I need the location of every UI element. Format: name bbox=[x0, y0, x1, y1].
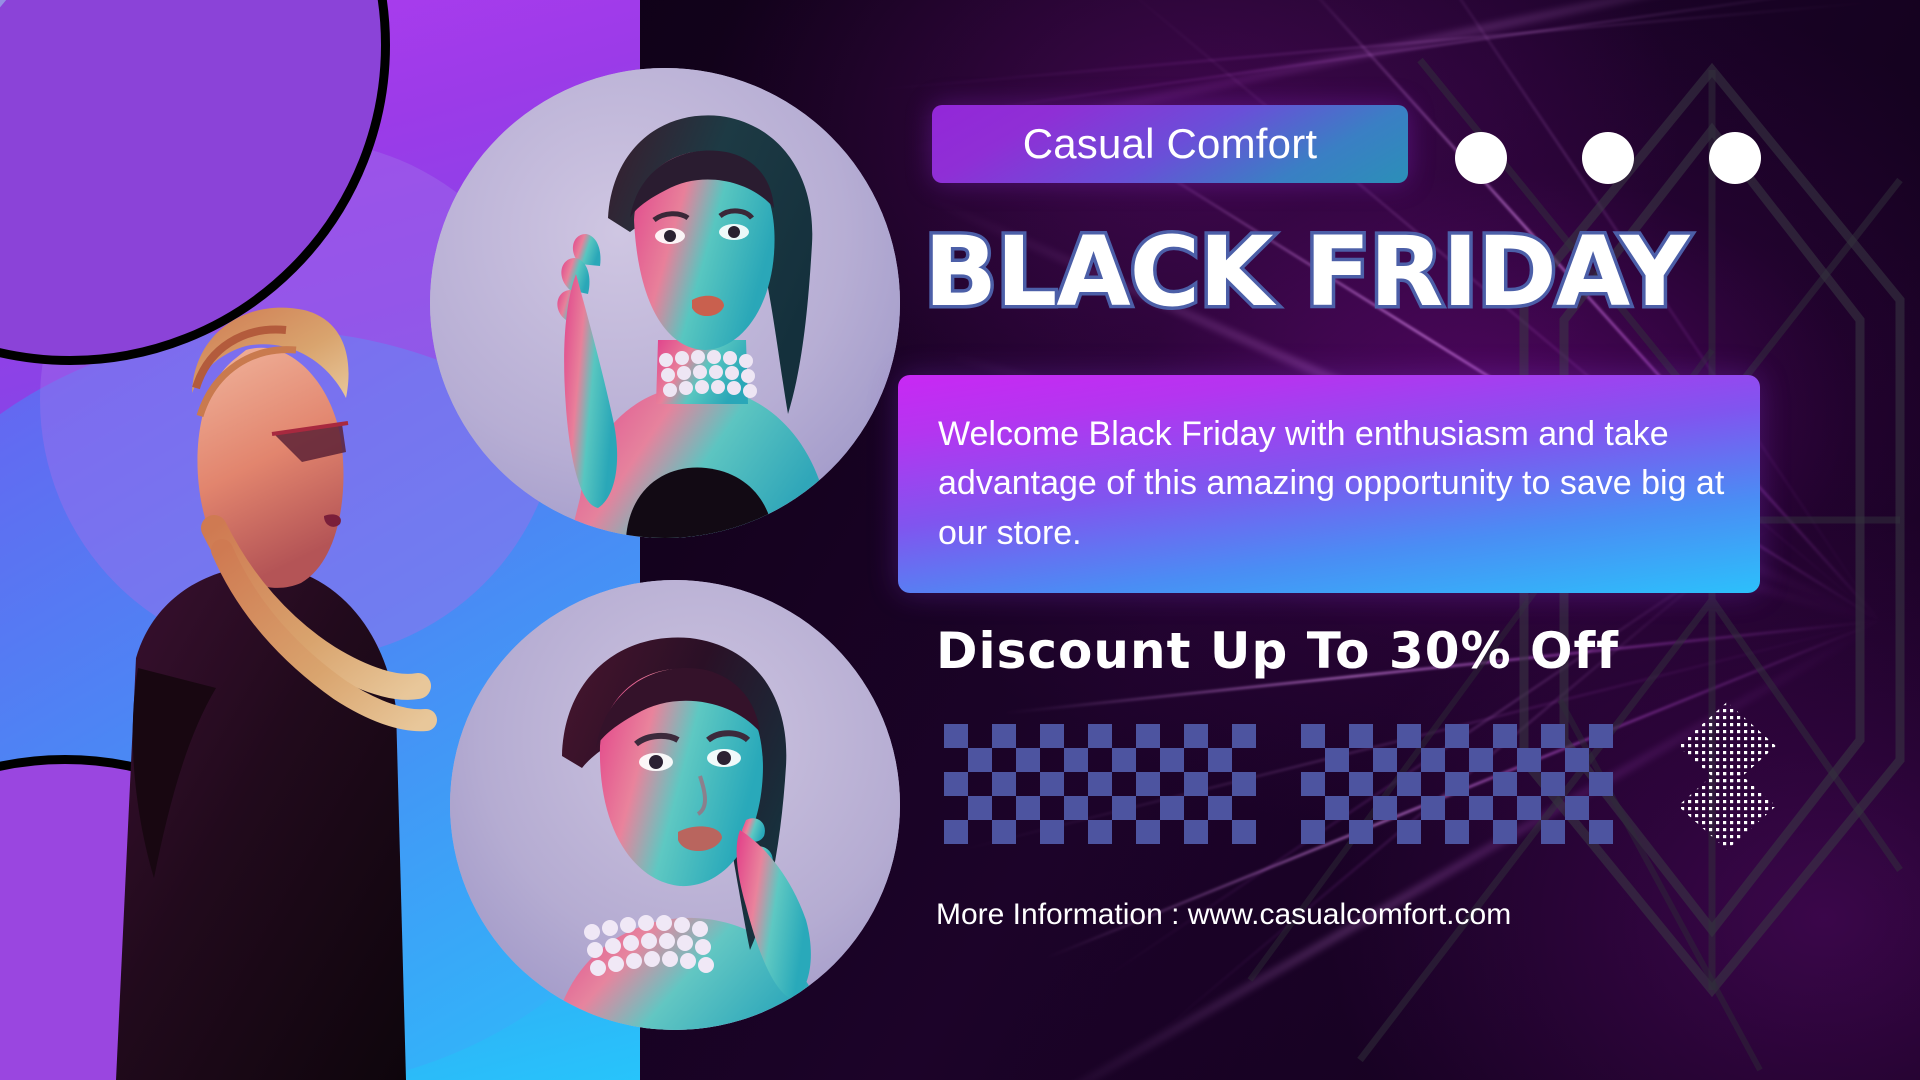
promo-message-text: Welcome Black Friday with enthusiasm and… bbox=[898, 410, 1760, 558]
chevron-graphic-bottom bbox=[0, 824, 84, 1080]
diamond-dot-decoration bbox=[1672, 700, 1782, 855]
photo-circle-model-two bbox=[450, 580, 900, 1030]
decorative-dot-1 bbox=[1455, 132, 1507, 184]
promo-message-panel: Welcome Black Friday with enthusiasm and… bbox=[898, 375, 1760, 593]
decorative-dot-2 bbox=[1582, 132, 1634, 184]
brand-badge-label: Casual Comfort bbox=[1023, 123, 1318, 165]
photo-circle-model-one bbox=[430, 68, 900, 538]
decorative-dots-group bbox=[1455, 132, 1761, 184]
black-friday-banner: Casual Comfort BLACK FRIDAY Welcome Blac… bbox=[0, 0, 1920, 1080]
checker-decoration-group bbox=[944, 724, 1613, 844]
photo-model-hoodie bbox=[96, 238, 456, 1080]
checker-grid-left bbox=[944, 724, 1256, 844]
decorative-dot-3 bbox=[1709, 132, 1761, 184]
more-information-line[interactable]: More Information : www.casualcomfort.com bbox=[936, 898, 1511, 932]
checker-grid-right bbox=[1301, 724, 1613, 844]
chevron-graphic-top bbox=[0, 0, 107, 214]
brand-badge[interactable]: Casual Comfort bbox=[932, 105, 1408, 183]
discount-headline: Discount Up To 30% Off bbox=[936, 622, 1619, 680]
page-title: BLACK FRIDAY bbox=[924, 222, 1824, 323]
